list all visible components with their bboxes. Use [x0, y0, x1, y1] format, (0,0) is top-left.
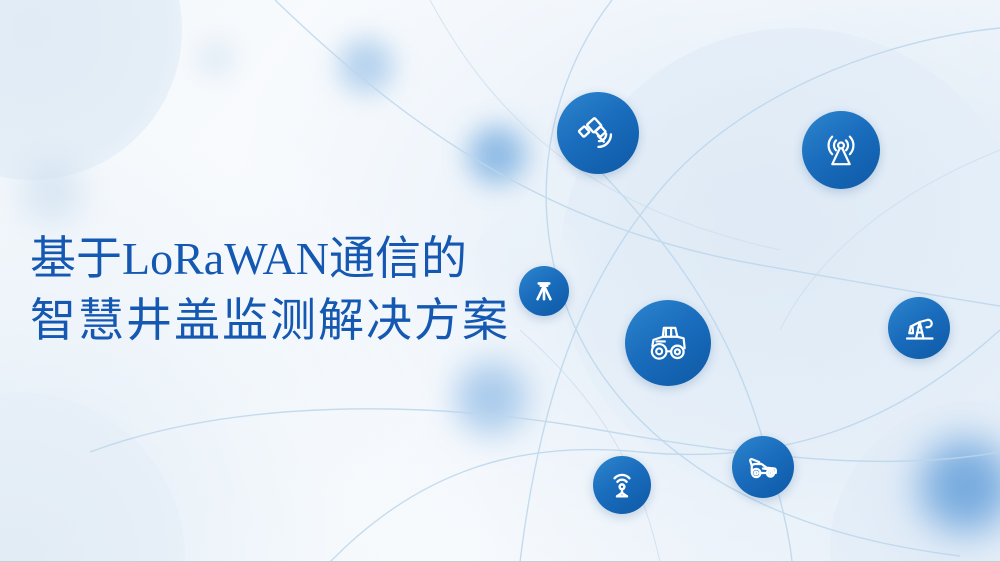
bokeh-dot-3	[455, 362, 527, 434]
node-oil-pumpjack[interactable]	[888, 297, 950, 359]
node-satellite[interactable]	[557, 92, 639, 174]
tractor-icon	[643, 318, 693, 368]
background-disc-small	[830, 400, 1000, 562]
oil-pumpjack-icon	[901, 310, 937, 346]
wifi-beacon-icon	[605, 468, 639, 502]
node-harvester[interactable]	[732, 436, 794, 498]
background-disc-large	[560, 28, 1000, 498]
node-tractor[interactable]	[625, 300, 711, 386]
node-radio-tower[interactable]	[802, 111, 880, 189]
survey-tripod-icon	[530, 277, 558, 305]
node-sensor-beacon[interactable]	[593, 456, 651, 514]
bokeh-dot-6	[196, 38, 236, 78]
bokeh-dot-4	[920, 440, 1000, 532]
bokeh-dot-1	[338, 38, 394, 94]
bokeh-dot-5	[20, 160, 84, 224]
page-title: 基于LoRaWAN通信的 智慧井盖监测解决方案	[30, 228, 510, 352]
satellite-signal-icon	[575, 110, 621, 156]
radio-tower-icon	[819, 128, 863, 172]
harvester-icon	[745, 449, 781, 485]
title-line-2: 智慧井盖监测解决方案	[30, 290, 510, 352]
background-blob-top-left	[0, 0, 182, 180]
title-line-1: 基于LoRaWAN通信的	[30, 228, 510, 290]
bokeh-dot-2	[468, 126, 526, 184]
node-survey-tripod[interactable]	[519, 266, 569, 316]
background-blob-bottom-left	[0, 392, 185, 562]
title-slide: 基于LoRaWAN通信的 智慧井盖监测解决方案	[0, 0, 1000, 562]
